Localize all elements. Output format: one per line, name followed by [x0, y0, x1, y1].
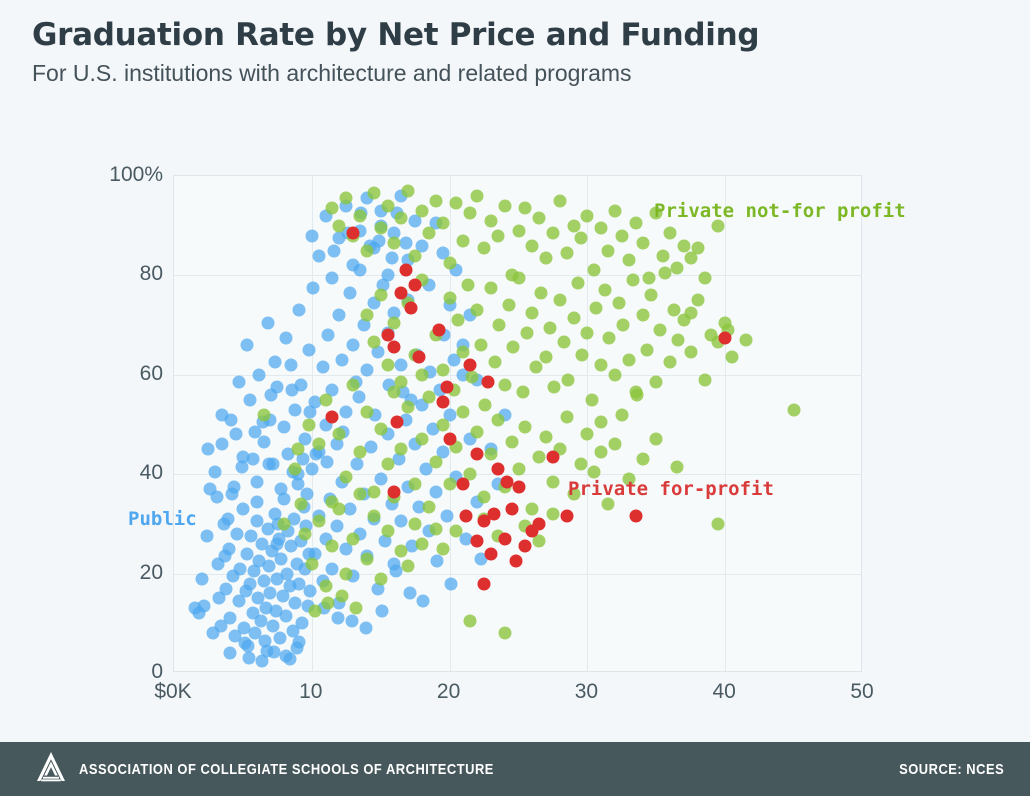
data-point-private-not-for-profit	[478, 490, 491, 503]
data-point-public	[381, 269, 394, 282]
data-point-public	[327, 244, 340, 257]
data-point-private-not-for-profit	[464, 614, 477, 627]
data-point-private-not-for-profit	[608, 438, 621, 451]
data-point-public	[376, 604, 389, 617]
data-point-private-not-for-profit	[305, 557, 318, 570]
data-point-public	[230, 428, 243, 441]
data-point-public	[206, 627, 219, 640]
data-point-private-for-profit	[326, 411, 339, 424]
data-point-private-not-for-profit	[505, 435, 518, 448]
data-point-public	[231, 527, 244, 540]
data-point-public	[195, 572, 208, 585]
data-point-private-not-for-profit	[484, 281, 497, 294]
footer-bar: ASSOCIATION OF COLLEGIATE SCHOOLS OF ARC…	[0, 742, 1030, 796]
data-point-private-not-for-profit	[429, 455, 442, 468]
data-point-private-for-profit	[505, 502, 518, 515]
data-point-public	[347, 338, 360, 351]
data-point-private-not-for-profit	[402, 560, 415, 573]
data-point-private-not-for-profit	[347, 532, 360, 545]
data-point-public	[188, 602, 201, 615]
data-point-public	[296, 617, 309, 630]
data-point-private-not-for-profit	[613, 296, 626, 309]
data-point-public	[248, 425, 261, 438]
data-point-private-not-for-profit	[629, 217, 642, 230]
data-point-public	[280, 567, 293, 580]
data-point-private-for-profit	[719, 331, 732, 344]
data-point-private-not-for-profit	[546, 507, 559, 520]
data-point-private-not-for-profit	[530, 361, 543, 374]
data-point-private-not-for-profit	[589, 301, 602, 314]
data-point-public	[326, 562, 339, 575]
data-point-private-not-for-profit	[588, 465, 601, 478]
data-point-private-not-for-profit	[402, 401, 415, 414]
data-point-private-not-for-profit	[608, 368, 621, 381]
data-point-private-for-profit	[546, 450, 559, 463]
data-point-private-not-for-profit	[395, 443, 408, 456]
x-axis-tick-label: $0K	[154, 680, 191, 704]
data-point-public	[444, 577, 457, 590]
data-point-public	[263, 458, 276, 471]
data-point-private-not-for-profit	[367, 187, 380, 200]
data-point-public	[274, 632, 287, 645]
data-point-public	[279, 609, 292, 622]
data-point-private-not-for-profit	[443, 291, 456, 304]
data-point-private-not-for-profit	[308, 604, 321, 617]
data-point-public	[270, 537, 283, 550]
data-point-public	[261, 316, 274, 329]
data-point-private-not-for-profit	[464, 207, 477, 220]
data-point-public	[345, 614, 358, 627]
data-point-private-not-for-profit	[562, 373, 575, 386]
data-point-private-not-for-profit	[553, 294, 566, 307]
data-point-private-not-for-profit	[664, 227, 677, 240]
data-point-public	[254, 614, 267, 627]
data-point-public	[289, 597, 302, 610]
data-point-private-not-for-profit	[349, 602, 362, 615]
data-point-public	[257, 435, 270, 448]
gridline-vertical	[450, 176, 451, 671]
data-point-public	[305, 229, 318, 242]
data-point-private-for-profit	[399, 264, 412, 277]
data-point-private-for-profit	[487, 507, 500, 520]
data-point-private-not-for-profit	[684, 306, 697, 319]
data-point-private-not-for-profit	[698, 373, 711, 386]
data-point-private-not-for-profit	[436, 217, 449, 230]
data-point-private-for-profit	[405, 301, 418, 314]
data-point-private-for-profit	[464, 358, 477, 371]
data-point-private-not-for-profit	[603, 331, 616, 344]
data-point-private-not-for-profit	[457, 406, 470, 419]
data-point-private-for-profit	[471, 535, 484, 548]
data-point-public	[312, 249, 325, 262]
data-point-private-not-for-profit	[602, 244, 615, 257]
data-point-private-not-for-profit	[409, 249, 422, 262]
data-point-public	[201, 530, 214, 543]
data-point-private-not-for-profit	[416, 368, 429, 381]
data-point-private-not-for-profit	[491, 413, 504, 426]
data-point-public	[238, 637, 251, 650]
data-point-private-not-for-profit	[333, 502, 346, 515]
data-point-public	[385, 252, 398, 265]
footer-org-name: ASSOCIATION OF COLLEGIATE SCHOOLS OF ARC…	[79, 761, 494, 778]
data-point-public	[292, 636, 305, 649]
data-point-public	[359, 622, 372, 635]
data-point-private-for-profit	[432, 324, 445, 337]
data-point-private-not-for-profit	[498, 378, 511, 391]
data-point-private-not-for-profit	[599, 284, 612, 297]
data-point-public	[429, 485, 442, 498]
scatter-plot: 020406080100% $0K1020304050 Public Priva…	[0, 0, 1030, 740]
data-point-public	[251, 495, 264, 508]
data-point-private-not-for-profit	[395, 545, 408, 558]
data-point-private-not-for-profit	[640, 343, 653, 356]
data-point-public	[243, 652, 256, 665]
data-point-public	[395, 358, 408, 371]
data-point-private-not-for-profit	[354, 209, 367, 222]
data-point-public	[267, 646, 280, 659]
data-point-public	[374, 473, 387, 486]
data-point-public	[221, 512, 234, 525]
data-point-private-not-for-profit	[636, 309, 649, 322]
data-point-private-for-profit	[484, 547, 497, 560]
data-point-private-not-for-profit	[650, 433, 663, 446]
data-point-public	[255, 654, 268, 667]
data-point-public	[241, 547, 254, 560]
x-axis-tick-label: 20	[437, 680, 460, 704]
data-point-private-for-profit	[629, 510, 642, 523]
data-point-private-for-profit	[498, 532, 511, 545]
x-axis-tick-label: 50	[850, 680, 873, 704]
data-point-public	[257, 575, 270, 588]
data-point-private-not-for-profit	[489, 356, 502, 369]
data-point-private-not-for-profit	[519, 202, 532, 215]
data-point-public	[344, 286, 357, 299]
data-point-private-not-for-profit	[788, 403, 801, 416]
data-point-private-for-profit	[381, 329, 394, 342]
data-point-private-for-profit	[409, 279, 422, 292]
gridline-vertical	[725, 176, 726, 671]
data-point-private-not-for-profit	[422, 391, 435, 404]
data-point-private-not-for-profit	[534, 286, 547, 299]
data-point-private-not-for-profit	[512, 271, 525, 284]
y-axis-tick-label: 60	[140, 362, 163, 386]
data-point-private-not-for-profit	[340, 470, 353, 483]
y-axis-tick-label: 80	[140, 262, 163, 286]
data-point-private-for-profit	[560, 510, 573, 523]
data-point-private-not-for-profit	[546, 475, 559, 488]
data-point-private-for-profit	[388, 485, 401, 498]
data-point-public	[234, 562, 247, 575]
data-point-private-not-for-profit	[615, 408, 628, 421]
data-point-private-not-for-profit	[457, 346, 470, 359]
data-point-private-not-for-profit	[575, 348, 588, 361]
series-label-private-for-profit: Private for-profit	[568, 478, 774, 500]
data-point-private-not-for-profit	[643, 271, 656, 284]
data-point-public	[269, 356, 282, 369]
data-point-private-not-for-profit	[303, 418, 316, 431]
data-point-public	[305, 463, 318, 476]
data-point-public	[303, 343, 316, 356]
data-point-private-not-for-profit	[402, 184, 415, 197]
data-point-private-for-profit	[413, 351, 426, 364]
data-point-private-not-for-profit	[644, 289, 657, 302]
data-point-private-for-profit	[478, 577, 491, 590]
data-point-private-not-for-profit	[491, 229, 504, 242]
data-point-private-not-for-profit	[560, 247, 573, 260]
data-point-private-not-for-profit	[557, 336, 570, 349]
data-point-private-not-for-profit	[471, 304, 484, 317]
data-point-public	[235, 460, 248, 473]
data-point-private-not-for-profit	[354, 488, 367, 501]
data-point-private-not-for-profit	[574, 458, 587, 471]
data-point-private-for-profit	[347, 227, 360, 240]
data-point-private-not-for-profit	[498, 627, 511, 640]
series-label-private-not-for-profit: Private not-for profit	[654, 200, 906, 222]
data-point-public	[340, 406, 353, 419]
data-point-private-not-for-profit	[326, 202, 339, 215]
data-point-private-for-profit	[440, 381, 453, 394]
data-point-private-not-for-profit	[429, 194, 442, 207]
data-point-private-not-for-profit	[548, 381, 561, 394]
gridline-horizontal	[174, 375, 861, 376]
data-point-public	[373, 234, 386, 247]
data-point-private-not-for-profit	[581, 428, 594, 441]
data-point-private-not-for-profit	[289, 463, 302, 476]
data-point-private-not-for-profit	[571, 276, 584, 289]
data-point-private-not-for-profit	[519, 420, 532, 433]
data-point-public	[284, 653, 297, 666]
data-point-public	[347, 259, 360, 272]
data-point-private-not-for-profit	[409, 517, 422, 530]
data-point-public	[351, 458, 364, 471]
data-point-private-not-for-profit	[684, 346, 697, 359]
data-point-private-for-profit	[388, 341, 401, 354]
data-point-private-not-for-profit	[595, 358, 608, 371]
data-point-private-not-for-profit	[429, 522, 442, 535]
data-point-private-not-for-profit	[298, 527, 311, 540]
data-point-private-not-for-profit	[278, 517, 291, 530]
data-point-public	[209, 465, 222, 478]
data-point-private-not-for-profit	[672, 334, 685, 347]
data-point-private-for-profit	[491, 463, 504, 476]
data-point-private-not-for-profit	[336, 589, 349, 602]
y-axis-ticks: 020406080100%	[0, 0, 163, 796]
data-point-private-not-for-profit	[450, 525, 463, 538]
data-point-public	[322, 329, 335, 342]
data-point-private-not-for-profit	[698, 271, 711, 284]
data-point-private-not-for-profit	[292, 443, 305, 456]
data-point-private-not-for-profit	[333, 428, 346, 441]
data-point-private-for-profit	[482, 376, 495, 389]
data-point-private-not-for-profit	[546, 227, 559, 240]
data-point-private-not-for-profit	[484, 448, 497, 461]
data-point-public	[243, 393, 256, 406]
data-point-private-for-profit	[443, 433, 456, 446]
data-point-private-not-for-profit	[533, 450, 546, 463]
data-point-private-not-for-profit	[367, 510, 380, 523]
data-point-public	[336, 353, 349, 366]
data-point-public	[232, 376, 245, 389]
data-point-private-not-for-profit	[471, 425, 484, 438]
data-point-private-not-for-profit	[636, 453, 649, 466]
data-point-public	[307, 281, 320, 294]
data-point-private-not-for-profit	[457, 234, 470, 247]
data-point-private-not-for-profit	[657, 249, 670, 262]
data-point-public	[236, 502, 249, 515]
footer-source: SOURCE: NCES	[899, 761, 1004, 778]
data-point-private-not-for-profit	[617, 319, 630, 332]
data-point-private-not-for-profit	[677, 239, 690, 252]
data-point-public	[243, 577, 256, 590]
data-point-private-not-for-profit	[388, 386, 401, 399]
data-point-public	[267, 619, 280, 632]
data-point-private-not-for-profit	[450, 197, 463, 210]
data-point-private-for-profit	[533, 517, 546, 530]
data-point-private-not-for-profit	[726, 351, 739, 364]
data-point-public	[264, 587, 277, 600]
data-point-public	[326, 271, 339, 284]
data-point-private-not-for-profit	[294, 498, 307, 511]
data-point-private-not-for-profit	[436, 542, 449, 555]
data-point-private-not-for-profit	[388, 237, 401, 250]
data-point-private-not-for-profit	[739, 334, 752, 347]
data-point-private-not-for-profit	[516, 386, 529, 399]
data-point-public	[225, 413, 238, 426]
data-point-private-not-for-profit	[506, 341, 519, 354]
data-point-private-not-for-profit	[360, 309, 373, 322]
data-point-public	[289, 403, 302, 416]
data-point-private-not-for-profit	[326, 540, 339, 553]
y-axis-tick-label: 40	[140, 461, 163, 485]
data-point-private-not-for-profit	[650, 376, 663, 389]
data-point-private-not-for-profit	[388, 316, 401, 329]
data-point-public	[227, 480, 240, 493]
data-point-private-not-for-profit	[354, 445, 367, 458]
data-point-private-not-for-profit	[540, 351, 553, 364]
data-point-public	[263, 560, 276, 573]
data-point-private-for-profit	[519, 540, 532, 553]
data-point-private-not-for-profit	[319, 393, 332, 406]
data-point-public	[202, 443, 215, 456]
data-point-private-for-profit	[457, 478, 470, 491]
data-point-private-not-for-profit	[512, 224, 525, 237]
data-point-private-not-for-profit	[436, 363, 449, 376]
data-point-private-not-for-profit	[451, 314, 464, 327]
data-point-private-not-for-profit	[465, 371, 478, 384]
chart-page: Graduation Rate by Net Price and Funding…	[0, 0, 1030, 796]
gridline-vertical	[587, 176, 588, 671]
data-point-public	[431, 555, 444, 568]
data-point-public	[285, 358, 298, 371]
data-point-private-not-for-profit	[595, 416, 608, 429]
footer-brand: ASSOCIATION OF COLLEGIATE SCHOOLS OF ARC…	[36, 751, 561, 788]
data-point-private-not-for-profit	[436, 418, 449, 431]
data-point-public	[285, 383, 298, 396]
data-point-private-not-for-profit	[374, 222, 387, 235]
data-point-private-not-for-profit	[544, 321, 557, 334]
data-point-private-not-for-profit	[712, 517, 725, 530]
data-point-private-not-for-profit	[626, 274, 639, 287]
data-point-private-not-for-profit	[608, 204, 621, 217]
x-axis-tick-label: 30	[575, 680, 598, 704]
data-point-private-not-for-profit	[312, 515, 325, 528]
data-point-private-not-for-profit	[478, 242, 491, 255]
data-point-private-not-for-profit	[381, 358, 394, 371]
data-point-private-not-for-profit	[395, 212, 408, 225]
x-axis-tick-label: 40	[713, 680, 736, 704]
data-point-private-not-for-profit	[374, 289, 387, 302]
data-point-private-not-for-profit	[581, 209, 594, 222]
data-point-private-not-for-profit	[347, 378, 360, 391]
plot-area	[173, 175, 862, 672]
data-point-private-not-for-profit	[422, 500, 435, 513]
data-point-private-not-for-profit	[670, 460, 683, 473]
data-point-private-not-for-profit	[520, 326, 533, 339]
data-point-private-not-for-profit	[443, 256, 456, 269]
data-point-public	[395, 515, 408, 528]
data-point-private-not-for-profit	[526, 239, 539, 252]
data-point-public	[215, 438, 228, 451]
data-point-private-not-for-profit	[691, 294, 704, 307]
data-point-public	[417, 594, 430, 607]
data-point-private-not-for-profit	[381, 199, 394, 212]
data-point-public	[250, 475, 263, 488]
y-axis-tick-label: 20	[140, 561, 163, 585]
data-point-private-not-for-profit	[574, 232, 587, 245]
data-point-private-not-for-profit	[416, 537, 429, 550]
data-point-private-not-for-profit	[498, 199, 511, 212]
acsa-triangle-logo-icon	[36, 751, 66, 788]
data-point-public	[241, 338, 254, 351]
x-axis-tick-label: 10	[299, 680, 322, 704]
data-point-private-for-profit	[460, 510, 473, 523]
data-point-private-not-for-profit	[622, 254, 635, 267]
data-point-public	[224, 612, 237, 625]
data-point-public	[279, 331, 292, 344]
data-point-public	[316, 361, 329, 374]
data-point-public	[218, 550, 231, 563]
data-point-public	[213, 592, 226, 605]
data-point-private-not-for-profit	[622, 353, 635, 366]
data-point-private-for-profit	[395, 286, 408, 299]
data-point-public	[320, 455, 333, 468]
data-point-private-not-for-profit	[636, 237, 649, 250]
data-point-private-for-profit	[512, 480, 525, 493]
data-point-private-not-for-profit	[479, 398, 492, 411]
data-point-private-for-profit	[509, 555, 522, 568]
data-point-private-not-for-profit	[374, 423, 387, 436]
data-point-public	[331, 612, 344, 625]
data-point-private-not-for-profit	[461, 279, 474, 292]
data-point-public	[247, 453, 260, 466]
data-point-public	[275, 552, 288, 565]
data-point-private-not-for-profit	[567, 311, 580, 324]
data-point-private-not-for-profit	[670, 261, 683, 274]
data-point-private-not-for-profit	[367, 485, 380, 498]
data-point-public	[330, 520, 343, 533]
data-point-private-not-for-profit	[585, 393, 598, 406]
data-point-public	[203, 483, 216, 496]
data-point-private-not-for-profit	[312, 438, 325, 451]
data-point-private-not-for-profit	[381, 458, 394, 471]
data-point-private-not-for-profit	[340, 192, 353, 205]
data-point-private-not-for-profit	[588, 264, 601, 277]
data-point-private-not-for-profit	[654, 324, 667, 337]
data-point-private-not-for-profit	[615, 229, 628, 242]
data-point-public	[223, 647, 236, 660]
data-point-private-not-for-profit	[595, 222, 608, 235]
data-point-private-not-for-profit	[367, 336, 380, 349]
